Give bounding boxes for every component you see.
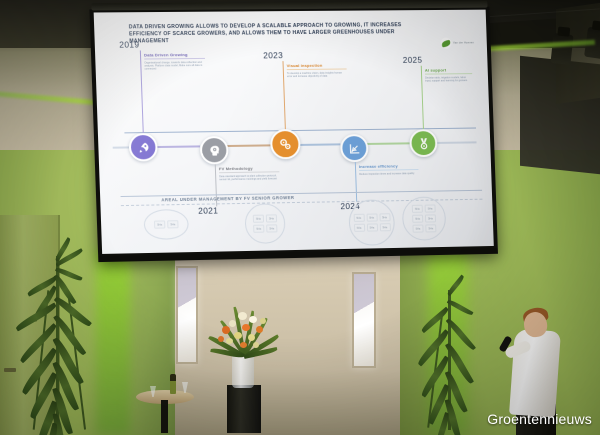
ha-box: 5Ha: [266, 214, 277, 222]
timeline-year-2023: 2023: [263, 51, 283, 60]
flower-bloom: [248, 334, 255, 341]
timeline-card-2023: Visual inspection To develop a machine v…: [287, 62, 347, 78]
card-title: Increase efficiency: [359, 163, 419, 171]
presentation-slide: DATA DRIVEN GROWING ALLOWS TO DEVELOP A …: [94, 10, 494, 254]
area-group-2021: 5Ha 5Ha 5Ha 5Ha: [244, 203, 286, 244]
wall-light-panel: [176, 266, 198, 364]
rocket-icon: [136, 141, 150, 154]
flower-bloom: [234, 332, 242, 339]
timeline-connector: [155, 145, 200, 147]
flower-bloom: [218, 336, 224, 342]
flower-bloom: [238, 312, 247, 320]
timeline-card-2019: Data Driven Growing Organisational chang…: [144, 52, 205, 71]
timeline-stub: [140, 50, 144, 133]
flower-bloom: [256, 326, 263, 333]
flower-bloom: [249, 316, 257, 323]
flower-bloom: [222, 326, 230, 334]
timeline-card-2021: FV Methodology Data standard approach to…: [219, 165, 280, 181]
ha-box: 5Ha: [154, 220, 165, 228]
slide-title: DATA DRIVEN GROWING ALLOWS TO DEVELOP A …: [129, 22, 430, 46]
timeline-card-2024: Increase efficiency Reduce inspection ti…: [359, 163, 419, 176]
timeline-node-2023[interactable]: [270, 129, 301, 159]
chart-icon: [348, 142, 361, 155]
area-group-2024-b: 5Ha 5Ha 5Ha 5Ha 5Ha 5Ha: [402, 196, 447, 240]
table-stem: [161, 400, 168, 433]
stage-light-icon: [550, 33, 573, 65]
medal-icon: [417, 137, 430, 150]
timeline-stub: [282, 61, 286, 129]
timeline-node-2019[interactable]: [129, 133, 158, 162]
card-title: AI support: [425, 67, 472, 75]
timeline-connector: [366, 142, 410, 144]
panel-shade: [178, 268, 196, 362]
flower-bloom: [240, 342, 247, 348]
wall-light-panel: [352, 272, 376, 368]
ha-box: 5Ha: [379, 223, 390, 231]
head-thinking-icon: [207, 144, 221, 157]
card-body: Data standard approach to plant collecti…: [219, 174, 279, 181]
card-title: Data Driven Growing: [144, 52, 205, 60]
photo-scene: DATA DRIVEN GROWING ALLOWS TO DEVELOP A …: [0, 0, 600, 435]
flower-bloom: [242, 324, 250, 331]
timeline-card-2025: AI support Decision aids, irrigation mod…: [425, 67, 473, 83]
speaker-body: [509, 329, 561, 418]
ha-box: 5Ha: [379, 213, 390, 221]
ha-box: 5Ha: [353, 214, 364, 222]
card-body: Organisational change, towards data coll…: [144, 61, 205, 71]
company-logo: Van der Hoeven: [440, 37, 474, 48]
screen-roller: [91, 1, 487, 11]
timeline-stub: [355, 162, 358, 202]
ha-box: 5Ha: [366, 223, 377, 231]
projection-screen: DATA DRIVEN GROWING ALLOWS TO DEVELOP A …: [89, 7, 498, 262]
timeline-node-2021[interactable]: [200, 136, 229, 165]
ha-box: 5Ha: [253, 215, 264, 223]
ha-box: 5Ha: [412, 205, 423, 213]
flower-pedestal: [227, 385, 261, 433]
ha-box: 5Ha: [366, 213, 377, 221]
ha-box: 5Ha: [425, 224, 436, 232]
panel-shade: [354, 274, 374, 366]
left-potted-plant: [4, 250, 124, 435]
flower-bloom: [226, 338, 233, 344]
watermark: Groentennieuws: [487, 411, 592, 427]
flower-arrangement: [198, 296, 294, 362]
gears-icon: [278, 137, 292, 151]
banner-rule: [121, 190, 483, 197]
card-body: Reduce inspection times and increase dat…: [359, 172, 418, 176]
timeline-connector: [296, 143, 340, 145]
timeline-year-2021: 2021: [198, 206, 218, 215]
ha-box: 5Ha: [425, 204, 436, 212]
ha-box: 5Ha: [253, 225, 264, 233]
flower-bloom: [253, 342, 259, 348]
timeline-year-2025: 2025: [403, 56, 423, 65]
ha-box: 5Ha: [412, 225, 423, 233]
ha-box: 5Ha: [412, 215, 423, 223]
leaf-logo-icon: [440, 38, 451, 49]
timeline-stub: [421, 66, 424, 130]
areal-banner-label: AREAL UNDER MANAGEMENT BY FV SENIOR GROW…: [161, 195, 294, 202]
ha-box: 5Ha: [266, 224, 277, 232]
area-group-2024-a: 5Ha 5Ha 5Ha 5Ha 5Ha 5Ha: [348, 199, 395, 246]
card-body: Decision aids, irrigation models, labor …: [425, 76, 472, 83]
timeline-node-2025[interactable]: [409, 129, 438, 157]
screen-frame: DATA DRIVEN GROWING ALLOWS TO DEVELOP A …: [89, 7, 498, 262]
timeline-node-2024[interactable]: [340, 134, 369, 162]
card-title: FV Methodology: [219, 165, 280, 173]
card-body: To develop a machine vision, data insigh…: [287, 71, 347, 78]
ha-box: 5Ha: [425, 214, 436, 222]
ha-box: 5Ha: [167, 220, 178, 228]
card-title: Visual inspection: [287, 62, 347, 70]
flower-bloom: [260, 318, 266, 324]
timeline-year-2019: 2019: [119, 40, 139, 49]
timeline-connector: [226, 144, 270, 146]
flower-bloom: [229, 320, 236, 327]
area-group-2019: 5Ha 5Ha: [143, 209, 189, 240]
bottle: [170, 374, 176, 394]
ha-box: 5Ha: [353, 224, 364, 232]
logo-text: Van der Hoeven: [453, 41, 474, 44]
